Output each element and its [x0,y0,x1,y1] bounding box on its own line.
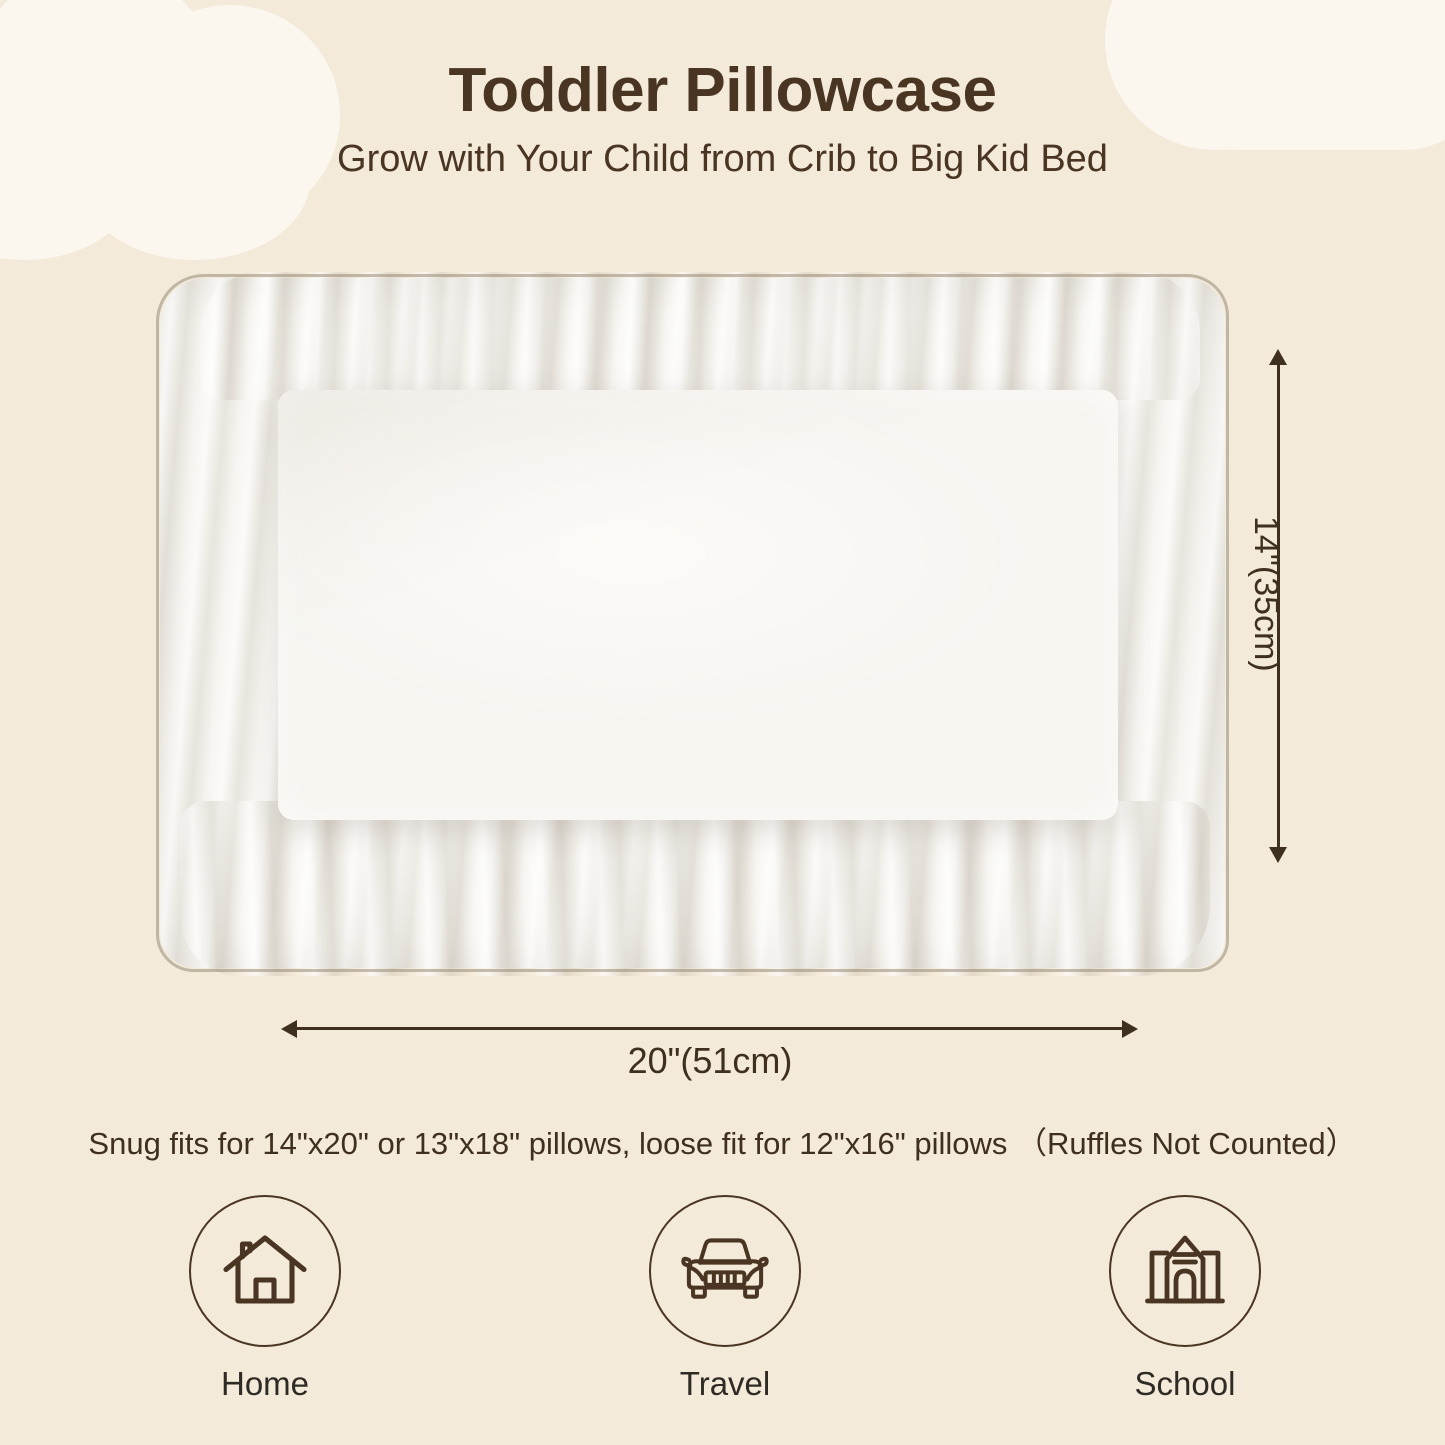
house-icon [217,1223,313,1319]
fit-note: Snug fits for 14"x20" or 13"x18" pillows… [0,1118,1445,1163]
page-title: Toddler Pillowcase [0,58,1445,123]
width-arrow-left-icon [281,1020,297,1038]
usecase-school-circle [1109,1195,1261,1347]
usecase-school-label: School [1135,1365,1236,1403]
width-arrow-right-icon [1122,1020,1138,1038]
height-arrow-top-icon [1269,349,1287,365]
usecase-travel-circle [649,1195,801,1347]
product-image [160,278,1225,968]
page-subtitle: Grow with Your Child from Crib to Big Ki… [0,139,1445,181]
school-icon [1137,1223,1233,1319]
header: Toddler Pillowcase Grow with Your Child … [0,58,1445,181]
usecase-travel: Travel [565,1195,885,1403]
usecase-row: Home Travel [105,1195,1345,1403]
product-infographic: Toddler Pillowcase Grow with Your Child … [0,0,1445,1445]
usecase-school: School [1025,1195,1345,1403]
height-dimension-label: 14"(35cm) [1246,516,1285,672]
usecase-home: Home [105,1195,425,1403]
usecase-travel-label: Travel [680,1365,770,1403]
usecase-home-circle [189,1195,341,1347]
car-icon [675,1221,775,1321]
pillowcase-face-shading [278,390,1118,820]
width-dimension-label: 20"(51cm) [0,1040,1420,1082]
usecase-home-label: Home [221,1365,309,1403]
height-arrow-bottom-icon [1269,847,1287,863]
width-dimension-line [294,1027,1126,1030]
pillowcase-face [278,390,1118,820]
